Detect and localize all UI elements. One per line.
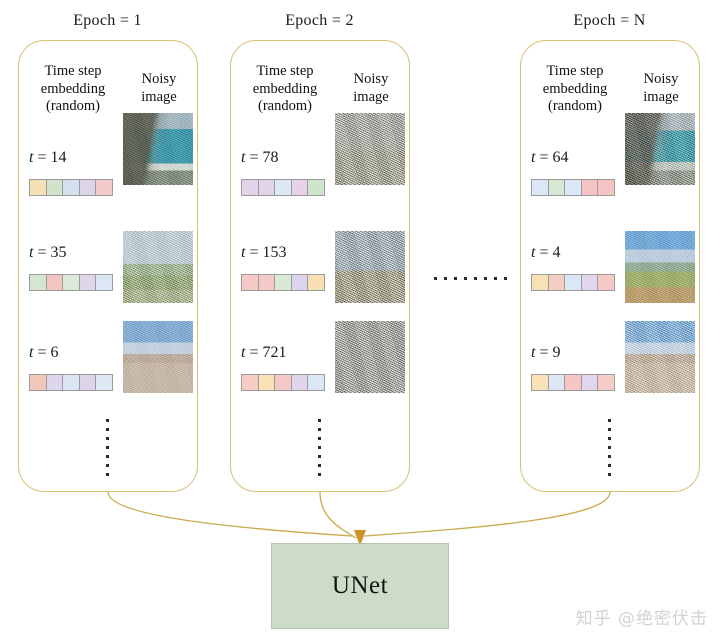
noise-grain <box>123 113 193 185</box>
embedding-cell-3 <box>63 375 80 390</box>
unet-label: UNet <box>332 572 388 600</box>
embedding-cell-1 <box>242 180 259 195</box>
embedding-bar <box>531 274 615 291</box>
embedding-cell-3 <box>565 275 582 290</box>
connector-line-epoch-n <box>364 492 610 536</box>
embedding-cell-4 <box>80 275 97 290</box>
noise-grain <box>123 231 193 303</box>
embedding-cell-5 <box>308 180 324 195</box>
t-value-label: t = 64 <box>531 149 623 169</box>
connector-line-epoch-1 <box>108 492 352 536</box>
noisy-image-tile <box>625 321 695 393</box>
t-value-label: t = 9 <box>531 344 623 364</box>
embedding-cell-1 <box>532 375 549 390</box>
embedding-cell-3 <box>565 180 582 195</box>
embedding-cell-2 <box>259 375 276 390</box>
timestep-row: t = 153 <box>241 244 333 291</box>
column-vertical-ellipsis <box>314 419 324 476</box>
embedding-cell-1 <box>532 180 549 195</box>
embedding-cell-5 <box>96 275 112 290</box>
embedding-bar <box>29 274 113 291</box>
noisy-image-tile <box>123 113 193 185</box>
t-value-label: t = 153 <box>241 244 333 264</box>
noise-grain <box>335 321 405 393</box>
unet-box: UNet <box>271 543 449 629</box>
t-value-label: t = 14 <box>29 149 121 169</box>
embedding-cell-3 <box>275 180 292 195</box>
noise-grain <box>335 231 405 303</box>
timestep-row: t = 4 <box>531 244 623 291</box>
column-heading-noisy-image: Noisyimage <box>123 71 195 106</box>
embedding-cell-4 <box>80 375 97 390</box>
embedding-cell-1 <box>30 375 47 390</box>
noisy-image-tile <box>625 231 695 303</box>
between-columns-ellipsis <box>434 277 507 280</box>
embedding-cell-3 <box>565 375 582 390</box>
noisy-image-tile <box>123 231 193 303</box>
embedding-cell-4 <box>582 275 599 290</box>
embedding-cell-5 <box>96 375 112 390</box>
timestep-row: t = 6 <box>29 344 121 391</box>
epoch-label-1: Epoch = 1 <box>10 12 205 30</box>
embedding-cell-2 <box>259 180 276 195</box>
embedding-bar <box>241 274 325 291</box>
t-value-label: t = 78 <box>241 149 333 169</box>
embedding-cell-2 <box>549 375 566 390</box>
embedding-cell-2 <box>549 180 566 195</box>
noise-grain <box>123 321 193 393</box>
timestep-row: t = 35 <box>29 244 121 291</box>
column-heading-embedding: Time stepembedding(random) <box>527 63 623 116</box>
embedding-bar <box>531 374 615 391</box>
t-value-label: t = 35 <box>29 244 121 264</box>
noisy-image-tile <box>335 321 405 393</box>
embedding-cell-2 <box>549 275 566 290</box>
embedding-cell-5 <box>598 180 614 195</box>
column-heading-embedding: Time stepembedding(random) <box>25 63 121 116</box>
t-value-label: t = 4 <box>531 244 623 264</box>
epoch-panel-2: Time stepembedding(random) Noisyimage t … <box>230 40 410 492</box>
embedding-cell-5 <box>308 275 324 290</box>
epoch-panel-1: Time stepembedding(random) Noisyimage t … <box>18 40 198 492</box>
column-vertical-ellipsis <box>102 419 112 476</box>
embedding-cell-4 <box>292 275 309 290</box>
timestep-row: t = 721 <box>241 344 333 391</box>
embedding-cell-5 <box>598 375 614 390</box>
embedding-cell-5 <box>598 275 614 290</box>
timestep-row: t = 14 <box>29 149 121 196</box>
embedding-cell-1 <box>242 375 259 390</box>
embedding-bar <box>241 179 325 196</box>
embedding-cell-2 <box>47 375 64 390</box>
embedding-bar <box>531 179 615 196</box>
embedding-cell-5 <box>308 375 324 390</box>
embedding-cell-5 <box>96 180 112 195</box>
embedding-cell-1 <box>242 275 259 290</box>
timestep-row: t = 64 <box>531 149 623 196</box>
timestep-row: t = 9 <box>531 344 623 391</box>
column-heading-noisy-image: Noisyimage <box>335 71 407 106</box>
embedding-bar <box>29 374 113 391</box>
noisy-image-tile <box>123 321 193 393</box>
noisy-image-tile <box>625 113 695 185</box>
embedding-cell-2 <box>259 275 276 290</box>
embedding-cell-4 <box>292 375 309 390</box>
embedding-cell-3 <box>275 275 292 290</box>
watermark: 知乎 @绝密伏击 <box>576 604 708 629</box>
column-vertical-ellipsis <box>604 419 614 476</box>
t-value-label: t = 721 <box>241 344 333 364</box>
embedding-cell-4 <box>582 375 599 390</box>
noisy-image-tile <box>335 113 405 185</box>
embedding-cell-4 <box>80 180 97 195</box>
embedding-cell-1 <box>30 275 47 290</box>
noise-grain <box>625 113 695 185</box>
embedding-cell-4 <box>582 180 599 195</box>
embedding-cell-1 <box>30 180 47 195</box>
embedding-cell-3 <box>63 180 80 195</box>
noisy-image-tile <box>335 231 405 303</box>
embedding-cell-3 <box>275 375 292 390</box>
column-heading-noisy-image: Noisyimage <box>625 71 697 106</box>
embedding-cell-2 <box>47 275 64 290</box>
noise-grain <box>335 113 405 185</box>
noise-grain <box>625 321 695 393</box>
embedding-bar <box>241 374 325 391</box>
embedding-cell-1 <box>532 275 549 290</box>
column-heading-embedding: Time stepembedding(random) <box>237 63 333 116</box>
noise-grain <box>625 231 695 303</box>
embedding-bar <box>29 179 113 196</box>
epoch-label-n: Epoch = N <box>512 12 707 30</box>
embedding-cell-2 <box>47 180 64 195</box>
embedding-cell-3 <box>63 275 80 290</box>
timestep-row: t = 78 <box>241 149 333 196</box>
t-value-label: t = 6 <box>29 344 121 364</box>
connector-line-epoch-2 <box>320 492 356 538</box>
embedding-cell-4 <box>292 180 309 195</box>
epoch-panel-n: Time stepembedding(random) Noisyimage t … <box>520 40 700 492</box>
epoch-label-2: Epoch = 2 <box>222 12 417 30</box>
